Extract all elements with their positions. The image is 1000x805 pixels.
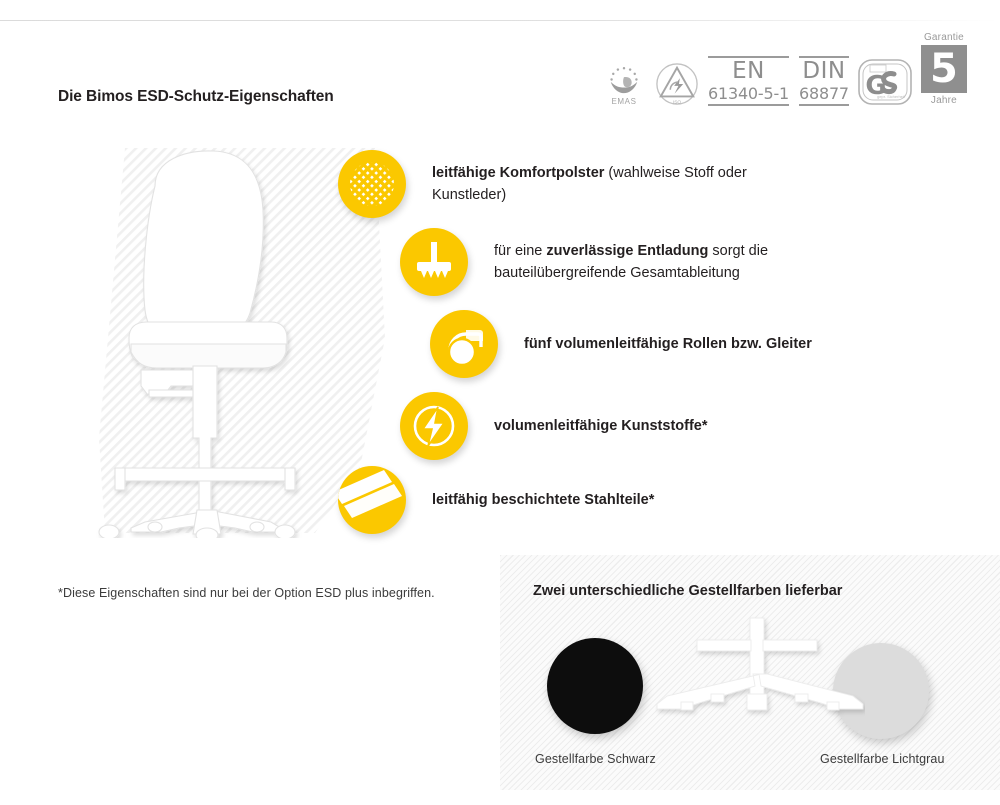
svg-text:ISO: ISO [673,100,682,106]
feature-bold-3: volumenleitfähige Kunststoffe* [494,418,708,434]
en-norm-number: 61340-5-1 [708,84,789,104]
swatch-label-black: Gestellfarbe Schwarz [535,752,656,766]
en-norm-logo: EN 61340-5-1 [706,56,791,106]
base-color-panel: Zwei unterschiedliche Gestellfarben lief… [500,555,1000,790]
norm-rule-bottom [708,104,789,106]
garantie-label-top: Garantie [924,32,964,43]
feature-bold-4: leitfähig beschichtete Stahlteile* [432,492,654,508]
emas-logo: EMAS [600,54,648,106]
feature-label-3: volumenleitfähige Kunststoffe* [494,415,708,437]
feature-lead-1: für eine [494,243,546,259]
en-norm-name: EN [708,58,789,84]
norm-rule-bottom [799,104,849,106]
chair-base-drawing [655,610,865,760]
footnote-text: *Diese Eigenschaften sind nur bei der Op… [58,586,435,600]
feature-bold-2: fünf volumenleitfähige Rollen bzw. Gleit… [524,336,812,352]
feature-row-4: leitfähig beschichtete Stahlteile* [338,466,654,534]
caster-wheel-icon [430,310,498,378]
feature-bold-1: zuverlässige Entladung [546,243,708,259]
din-norm-number: 68877 [799,84,849,104]
garantie-badge: Garantie 5 Jahre [919,32,969,106]
feature-row-2: fünf volumenleitfähige Rollen bzw. Gleit… [430,310,812,378]
svg-text:gepr. Sicherheit: gepr. Sicherheit [877,94,906,99]
grounding-discharge-icon [400,228,468,296]
garantie-years-number: 5 [921,45,967,93]
feature-bold-0: leitfähige Komfortpolster [432,165,604,181]
emas-label: EMAS [611,97,636,106]
lightning-bolt-icon [400,392,468,460]
feature-label-4: leitfähig beschichtete Stahlteile* [432,489,654,511]
garantie-label-bottom: Jahre [931,95,957,106]
header-divider [0,20,1000,21]
swatch-black [547,638,643,734]
feature-row-0: leitfähige Komfortpolster (wahlweise Sto… [338,150,762,218]
certification-strip: EMAS ISO EN 61340-5-1 DIN 68877 G gepr. … [600,26,969,106]
gs-mark-icon: G gepr. Sicherheit [857,58,913,106]
feature-row-3: volumenleitfähige Kunststoffe* [400,392,708,460]
page-title: Die Bimos ESD-Schutz-Eigenschaften [58,88,334,106]
feature-label-2: fünf volumenleitfähige Rollen bzw. Gleit… [524,333,812,355]
swatch-label-lightgray: Gestellfarbe Lichtgrau [820,752,945,766]
feature-label-0: leitfähige Komfortpolster (wahlweise Sto… [432,162,762,206]
base-panel-title: Zwei unterschiedliche Gestellfarben lief… [533,583,842,599]
gs-logo: G gepr. Sicherheit [857,58,913,106]
din-norm-name: DIN [799,58,849,84]
din-norm-logo: DIN 68877 [797,56,851,106]
feature-row-1: für eine zuverlässige Entladung sorgt di… [400,228,824,296]
esd-triangle-icon: ISO [655,62,699,106]
emas-mark-icon [605,64,643,96]
esd-iso-logo: ISO [654,54,700,106]
steel-sheet-icon [338,466,406,534]
feature-label-1: für eine zuverlässige Entladung sorgt di… [494,240,824,284]
mesh-fabric-icon [338,150,406,218]
